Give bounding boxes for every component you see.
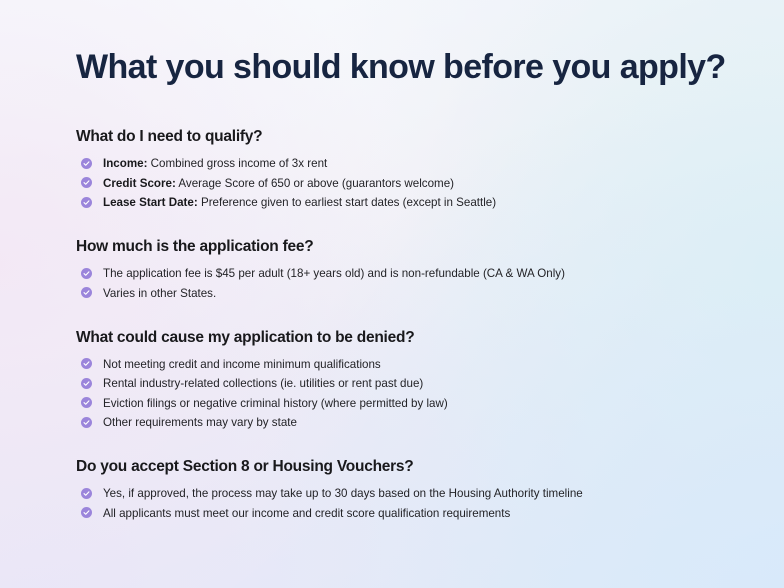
check-circle-icon [81, 488, 92, 499]
list-item-text: Credit Score: Average Score of 650 or ab… [103, 177, 454, 190]
check-circle-icon [81, 158, 92, 169]
list-item: Lease Start Date: Preference given to ea… [76, 196, 744, 209]
list-item-body: Rental industry-related collections (ie.… [103, 377, 423, 390]
check-circle-icon [81, 378, 92, 389]
check-circle-icon [81, 287, 92, 298]
check-circle-icon [81, 417, 92, 428]
list-item-text: Eviction filings or negative criminal hi… [103, 397, 448, 410]
list-item-body: Yes, if approved, the process may take u… [103, 487, 583, 500]
section-heading: Do you accept Section 8 or Housing Vouch… [76, 457, 744, 477]
page-title: What you should know before you apply? [76, 46, 744, 88]
list-item-text: All applicants must meet our income and … [103, 507, 510, 520]
list-item-body: Not meeting credit and income minimum qu… [103, 358, 381, 371]
section-heading: How much is the application fee? [76, 237, 744, 257]
list-item: Other requirements may vary by state [76, 416, 744, 429]
content-container: What you should know before you apply? W… [76, 46, 744, 520]
check-circle-icon [81, 507, 92, 518]
list-item-body: Combined gross income of 3x rent [147, 157, 327, 170]
check-circle-icon [81, 397, 92, 408]
list-item: Rental industry-related collections (ie.… [76, 377, 744, 390]
list-item-label: Lease Start Date: [103, 196, 198, 209]
list-item-body: The application fee is $45 per adult (18… [103, 267, 565, 280]
list-item: Varies in other States. [76, 287, 744, 300]
list-item-text: Rental industry-related collections (ie.… [103, 377, 423, 390]
list-item-body: Preference given to earliest start dates… [198, 196, 496, 209]
list-item-text: Not meeting credit and income minimum qu… [103, 358, 381, 371]
check-circle-icon [81, 197, 92, 208]
list-item-text: Income: Combined gross income of 3x rent [103, 157, 327, 170]
list-item-body: Other requirements may vary by state [103, 416, 297, 429]
list-item: Not meeting credit and income minimum qu… [76, 358, 744, 371]
check-circle-icon [81, 358, 92, 369]
list-item-body: All applicants must meet our income and … [103, 507, 510, 520]
faq-section-denial-reasons: What could cause my application to be de… [76, 328, 744, 430]
list-item-text: Varies in other States. [103, 287, 216, 300]
section-heading: What could cause my application to be de… [76, 328, 744, 348]
list-item: Yes, if approved, the process may take u… [76, 487, 744, 500]
faq-page: What you should know before you apply? W… [0, 0, 784, 588]
list-item: Income: Combined gross income of 3x rent [76, 157, 744, 170]
bullet-list: Income: Combined gross income of 3x rent… [76, 157, 744, 209]
list-item-text: Other requirements may vary by state [103, 416, 297, 429]
bullet-list: Not meeting credit and income minimum qu… [76, 358, 744, 430]
check-circle-icon [81, 268, 92, 279]
faq-section-qualify: What do I need to qualify? Income: Combi… [76, 127, 744, 209]
list-item-label: Credit Score: [103, 177, 176, 190]
section-heading: What do I need to qualify? [76, 127, 744, 147]
list-item: Eviction filings or negative criminal hi… [76, 397, 744, 410]
list-item-body: Eviction filings or negative criminal hi… [103, 397, 448, 410]
list-item-text: The application fee is $45 per adult (18… [103, 267, 565, 280]
list-item-label: Income: [103, 157, 147, 170]
list-item-text: Yes, if approved, the process may take u… [103, 487, 583, 500]
faq-section-section-8: Do you accept Section 8 or Housing Vouch… [76, 457, 744, 520]
list-item: Credit Score: Average Score of 650 or ab… [76, 177, 744, 190]
check-circle-icon [81, 177, 92, 188]
list-item-body: Varies in other States. [103, 287, 216, 300]
list-item-body: Average Score of 650 or above (guarantor… [176, 177, 454, 190]
bullet-list: The application fee is $45 per adult (18… [76, 267, 744, 300]
list-item: All applicants must meet our income and … [76, 507, 744, 520]
bullet-list: Yes, if approved, the process may take u… [76, 487, 744, 520]
faq-section-application-fee: How much is the application fee? The app… [76, 237, 744, 300]
list-item-text: Lease Start Date: Preference given to ea… [103, 196, 496, 209]
list-item: The application fee is $45 per adult (18… [76, 267, 744, 280]
